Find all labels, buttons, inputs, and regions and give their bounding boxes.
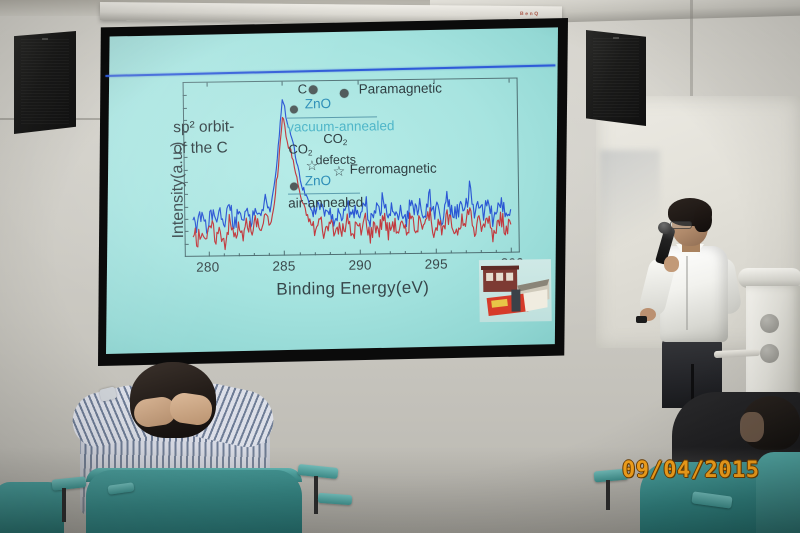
x-axis-tick-labels: 280285290295300 [185, 256, 520, 278]
lectern-knob [760, 344, 779, 363]
filled-circle-icon [290, 182, 298, 190]
curve-air-annealed [192, 114, 512, 249]
x-axis-title: Binding Energy(eV) [185, 277, 520, 301]
filled-circle-icon [340, 89, 349, 98]
speaker-grille [593, 38, 639, 118]
annotation-ferromagnetic: Ferromagnetic [350, 162, 437, 177]
x-tick [511, 248, 512, 253]
seat-tablet-post [606, 480, 610, 510]
x-minor-tick [405, 251, 406, 254]
star-icon-ferromagnetic: ☆ [333, 164, 346, 181]
lectern-knob [760, 314, 779, 333]
lecture-seat [756, 452, 800, 533]
wall-speaker-left [14, 31, 76, 134]
filled-circle-icon [290, 105, 298, 113]
annotation-co2-left: CO2 [288, 142, 312, 158]
y-minor-tick [185, 244, 189, 245]
seat-tablet-post [62, 488, 66, 522]
projector-brand-label: BenQ [520, 11, 540, 17]
presentation-clicker [636, 316, 647, 323]
projected-slide: 280285290295300 Binding Energy(eV) Inten… [104, 23, 560, 359]
lectern-top [738, 268, 800, 288]
x-minor-tick [390, 251, 391, 254]
annotation-paramagnetic: Paramagnetic [359, 82, 442, 97]
x-tick-label: 290 [348, 257, 371, 272]
y-minor-tick [183, 108, 187, 109]
audience-right-face [740, 412, 764, 442]
lecture-seat-front [86, 470, 302, 533]
x-tick [436, 249, 437, 254]
x-tick-label: 295 [425, 256, 448, 271]
xps-spectrum-chart: 280285290295300 Binding Energy(eV) Inten… [163, 78, 521, 298]
x-minor-tick [224, 253, 225, 256]
slide-horizontal-rule [105, 64, 555, 77]
inset-laboratory-image [479, 259, 552, 322]
annotation-co2-right: CO2 [323, 132, 347, 148]
camera-datestamp: 09/04/2015 [622, 458, 759, 483]
annotation-c-label: C [298, 82, 319, 96]
x-minor-tick [314, 252, 315, 255]
x-minor-tick [330, 252, 331, 255]
x-minor-tick [239, 253, 240, 256]
lectern [736, 268, 800, 408]
annotation-zno-top: ZnO [305, 97, 331, 112]
x-minor-tick [451, 250, 452, 253]
presenter-shirt-placket [686, 252, 688, 330]
x-tick-label: 280 [196, 259, 219, 274]
x-minor-tick [496, 250, 497, 253]
annotation-sp2-line1: sp² orbit- [173, 119, 234, 136]
inset-artwork [479, 259, 552, 322]
speaker-grille [21, 39, 69, 126]
speaker-led [613, 37, 619, 39]
x-minor-tick [299, 252, 300, 255]
presenter-hair-back [694, 206, 712, 232]
x-minor-tick [269, 253, 270, 256]
x-tick-top [282, 82, 283, 86]
x-tick-top [509, 79, 510, 83]
y-minor-tick [183, 95, 187, 96]
annotation-zno-bottom: ZnO [305, 174, 331, 189]
x-minor-tick [466, 250, 467, 253]
annotation-sp2-line2: of the C [173, 140, 227, 157]
speaker-led [42, 38, 48, 40]
x-minor-tick [375, 251, 376, 254]
annotation-paramagnetic-dot [340, 86, 349, 103]
x-tick-top [206, 83, 207, 87]
x-tick [208, 252, 209, 257]
x-tick-label: 285 [272, 258, 295, 273]
presenter-mic-hand [664, 256, 679, 272]
x-minor-tick [481, 250, 482, 253]
annotation-zno-top-dot [290, 101, 298, 118]
lecture-hall-photo: BenQ 280285290295300 Binding Energy(eV) … [0, 0, 800, 533]
annotation-air-annealed: air-annealed [288, 196, 363, 211]
x-minor-tick [345, 252, 346, 255]
x-tick [360, 250, 361, 255]
wall-speaker-right [586, 30, 646, 126]
x-tick [284, 251, 285, 256]
x-minor-tick [254, 253, 255, 256]
filled-circle-icon [309, 85, 318, 94]
x-minor-tick [420, 251, 421, 254]
lectern-body [746, 286, 800, 398]
